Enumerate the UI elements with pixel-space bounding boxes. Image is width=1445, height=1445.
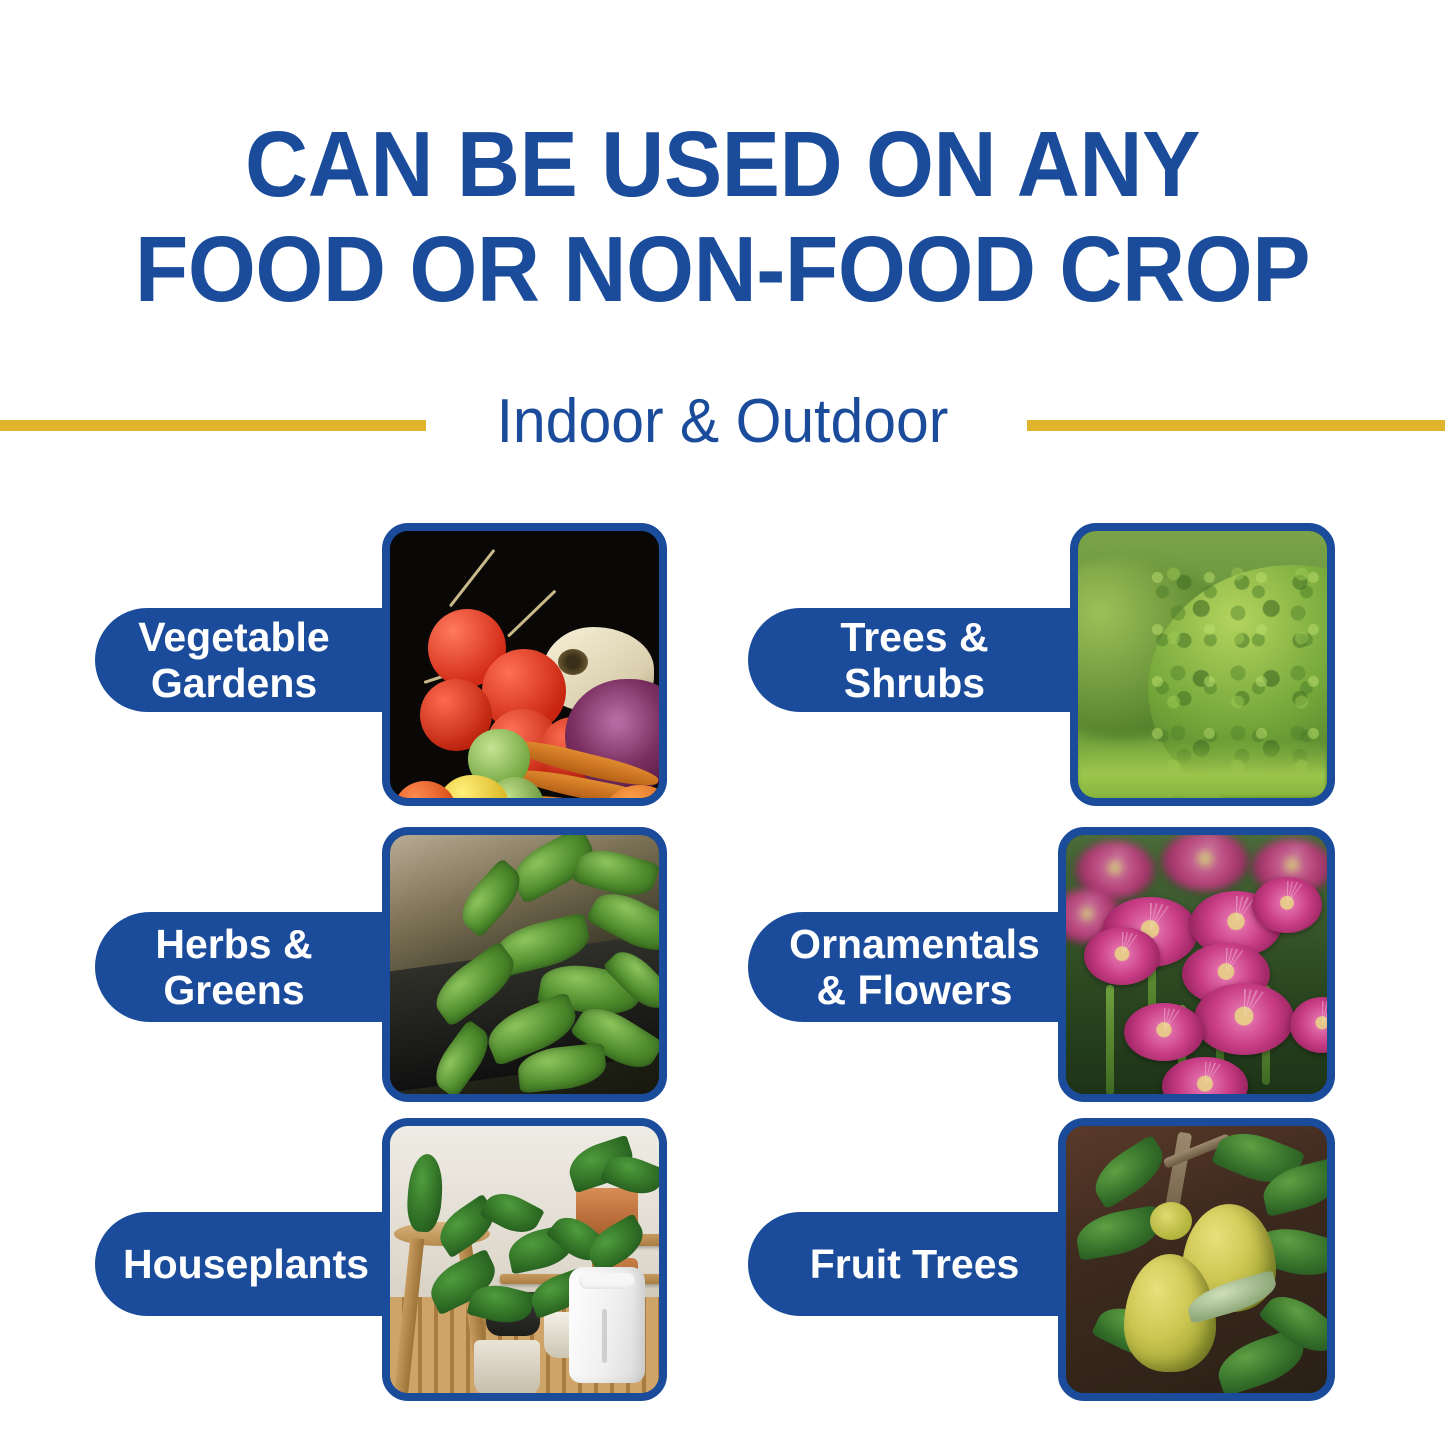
promo-poster: CAN BE USED ON ANY FOOD OR NON-FOOD CROP…	[0, 0, 1445, 1445]
humidifier	[569, 1267, 645, 1383]
image-card-vegetable-gardens[interactable]	[382, 523, 667, 806]
image-card-ornamentals-flowers[interactable]	[1058, 827, 1335, 1102]
photo-herbs-greens	[390, 835, 659, 1094]
photo-vegetable-gardens	[390, 531, 659, 798]
image-card-trees-shrubs[interactable]	[1070, 523, 1335, 806]
image-card-herbs-greens[interactable]	[382, 827, 667, 1102]
photo-fruit-trees	[1066, 1126, 1327, 1393]
photo-trees-shrubs	[1078, 531, 1327, 798]
image-card-fruit-trees[interactable]	[1058, 1118, 1335, 1401]
image-card-houseplants[interactable]	[382, 1118, 667, 1401]
crop-type-grid: Vegetable Gardens	[0, 0, 1445, 1445]
photo-ornamentals-flowers	[1066, 835, 1327, 1094]
photo-houseplants	[390, 1126, 659, 1393]
